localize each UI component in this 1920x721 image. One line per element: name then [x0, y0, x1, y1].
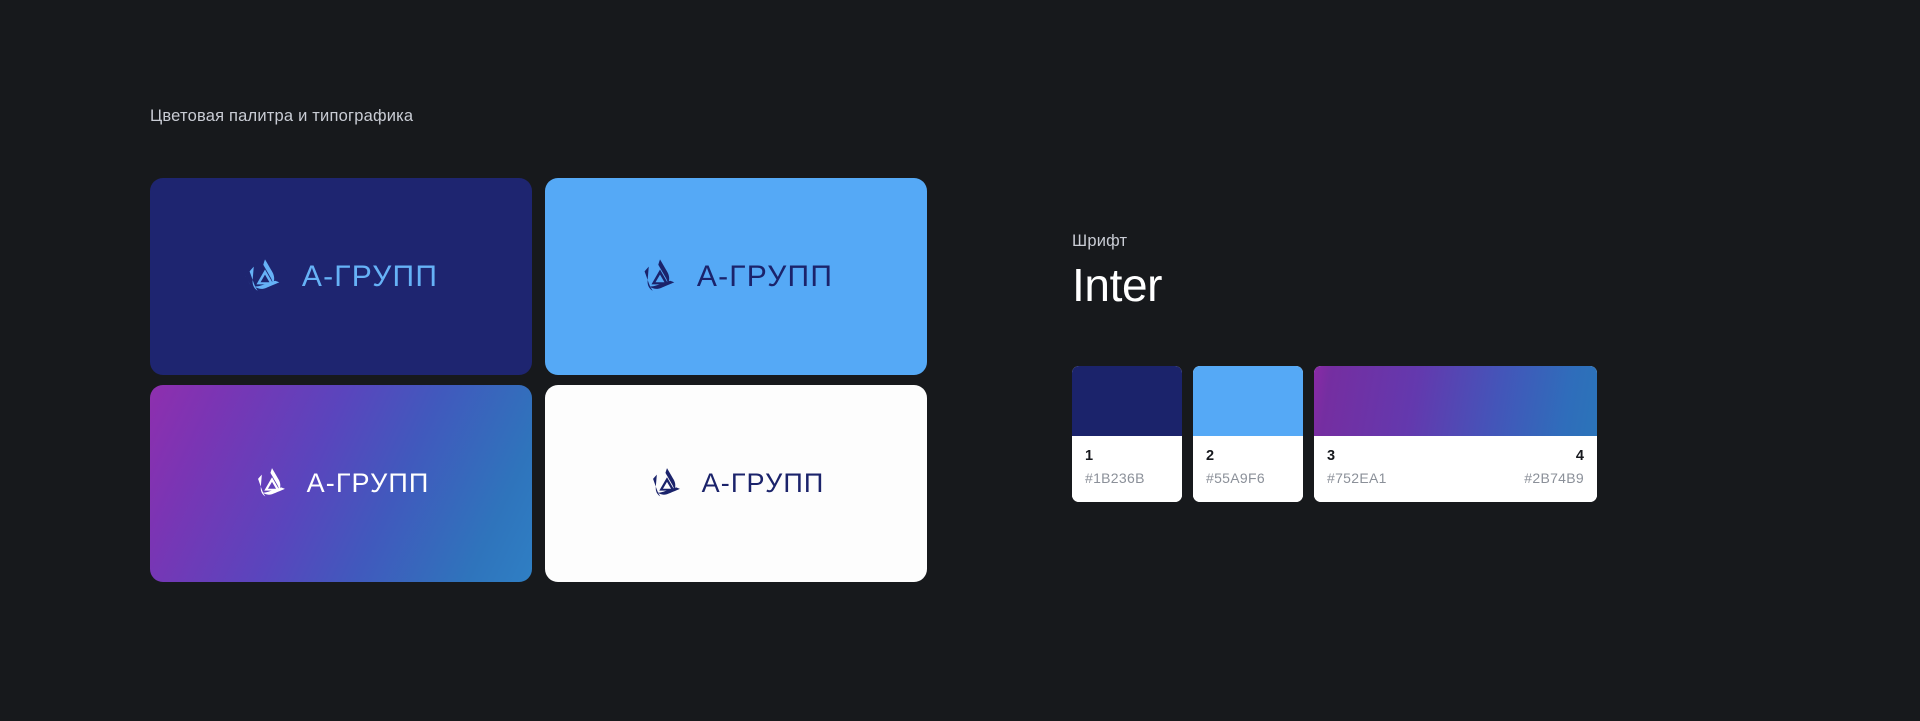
brand-guidelines-board: Цветовая палитра и типографика [0, 0, 1920, 721]
a-grupp-mark-icon [244, 256, 286, 298]
a-grupp-mark-icon [639, 256, 681, 298]
color-hex: #55A9F6 [1206, 468, 1265, 488]
color-hex: #1B236B [1085, 468, 1145, 488]
typography-family-name: Inter [1072, 261, 1162, 311]
color-swatch-labels: 2 #55A9F6 [1206, 447, 1265, 488]
color-swatch-2[interactable]: 2 #55A9F6 [1193, 366, 1303, 502]
color-swatch-meta: 2 #55A9F6 [1193, 436, 1303, 502]
logo-wordmark: А-ГРУПП [302, 262, 438, 292]
color-swatch-labels: 1 #1B236B [1085, 447, 1145, 488]
logo-lockup: А-ГРУПП [648, 465, 825, 503]
color-swatch-meta: 1 #1B236B [1072, 436, 1182, 502]
color-index: 3 [1327, 447, 1387, 465]
logo-wordmark: А-ГРУПП [307, 470, 430, 497]
typography-label: Шрифт [1072, 232, 1162, 251]
color-swatch-meta: 3 #752EA1 4 #2B74B9 [1314, 436, 1597, 502]
logo-wordmark: А-ГРУПП [697, 262, 833, 292]
a-grupp-mark-icon [253, 465, 291, 503]
logo-card-navy[interactable]: А-ГРУПП [150, 178, 532, 375]
logo-card-skyblue[interactable]: А-ГРУПП [545, 178, 927, 375]
color-chip-1 [1072, 366, 1182, 436]
color-chip-2 [1193, 366, 1303, 436]
color-index: 1 [1085, 447, 1145, 465]
logo-card-white[interactable]: А-ГРУПП [545, 385, 927, 582]
color-swatch-labels-start: 3 #752EA1 [1327, 447, 1387, 488]
logo-lockup: А-ГРУПП [244, 256, 438, 298]
typography-block: Шрифт Inter [1072, 232, 1162, 311]
color-palette: 1 #1B236B 2 #55A9F6 3 #752EA1 [1072, 366, 1597, 502]
color-swatch-labels-end: 4 #2B74B9 [1524, 447, 1584, 488]
color-swatch-1[interactable]: 1 #1B236B [1072, 366, 1182, 502]
logo-lockup: А-ГРУПП [639, 256, 833, 298]
color-chip-gradient [1314, 366, 1597, 436]
logo-card-grid: А-ГРУПП А-ГРУПП [150, 178, 927, 595]
a-grupp-mark-icon [648, 465, 686, 503]
logo-card-gradient[interactable]: А-ГРУПП [150, 385, 532, 582]
color-index: 2 [1206, 447, 1265, 465]
color-hex: #752EA1 [1327, 468, 1387, 488]
color-swatch-gradient[interactable]: 3 #752EA1 4 #2B74B9 [1314, 366, 1597, 502]
section-caption: Цветовая палитра и типографика [150, 107, 413, 126]
color-index-end: 4 [1576, 447, 1584, 465]
color-hex-end: #2B74B9 [1524, 468, 1584, 488]
logo-wordmark: А-ГРУПП [702, 470, 825, 497]
logo-lockup: А-ГРУПП [253, 465, 430, 503]
